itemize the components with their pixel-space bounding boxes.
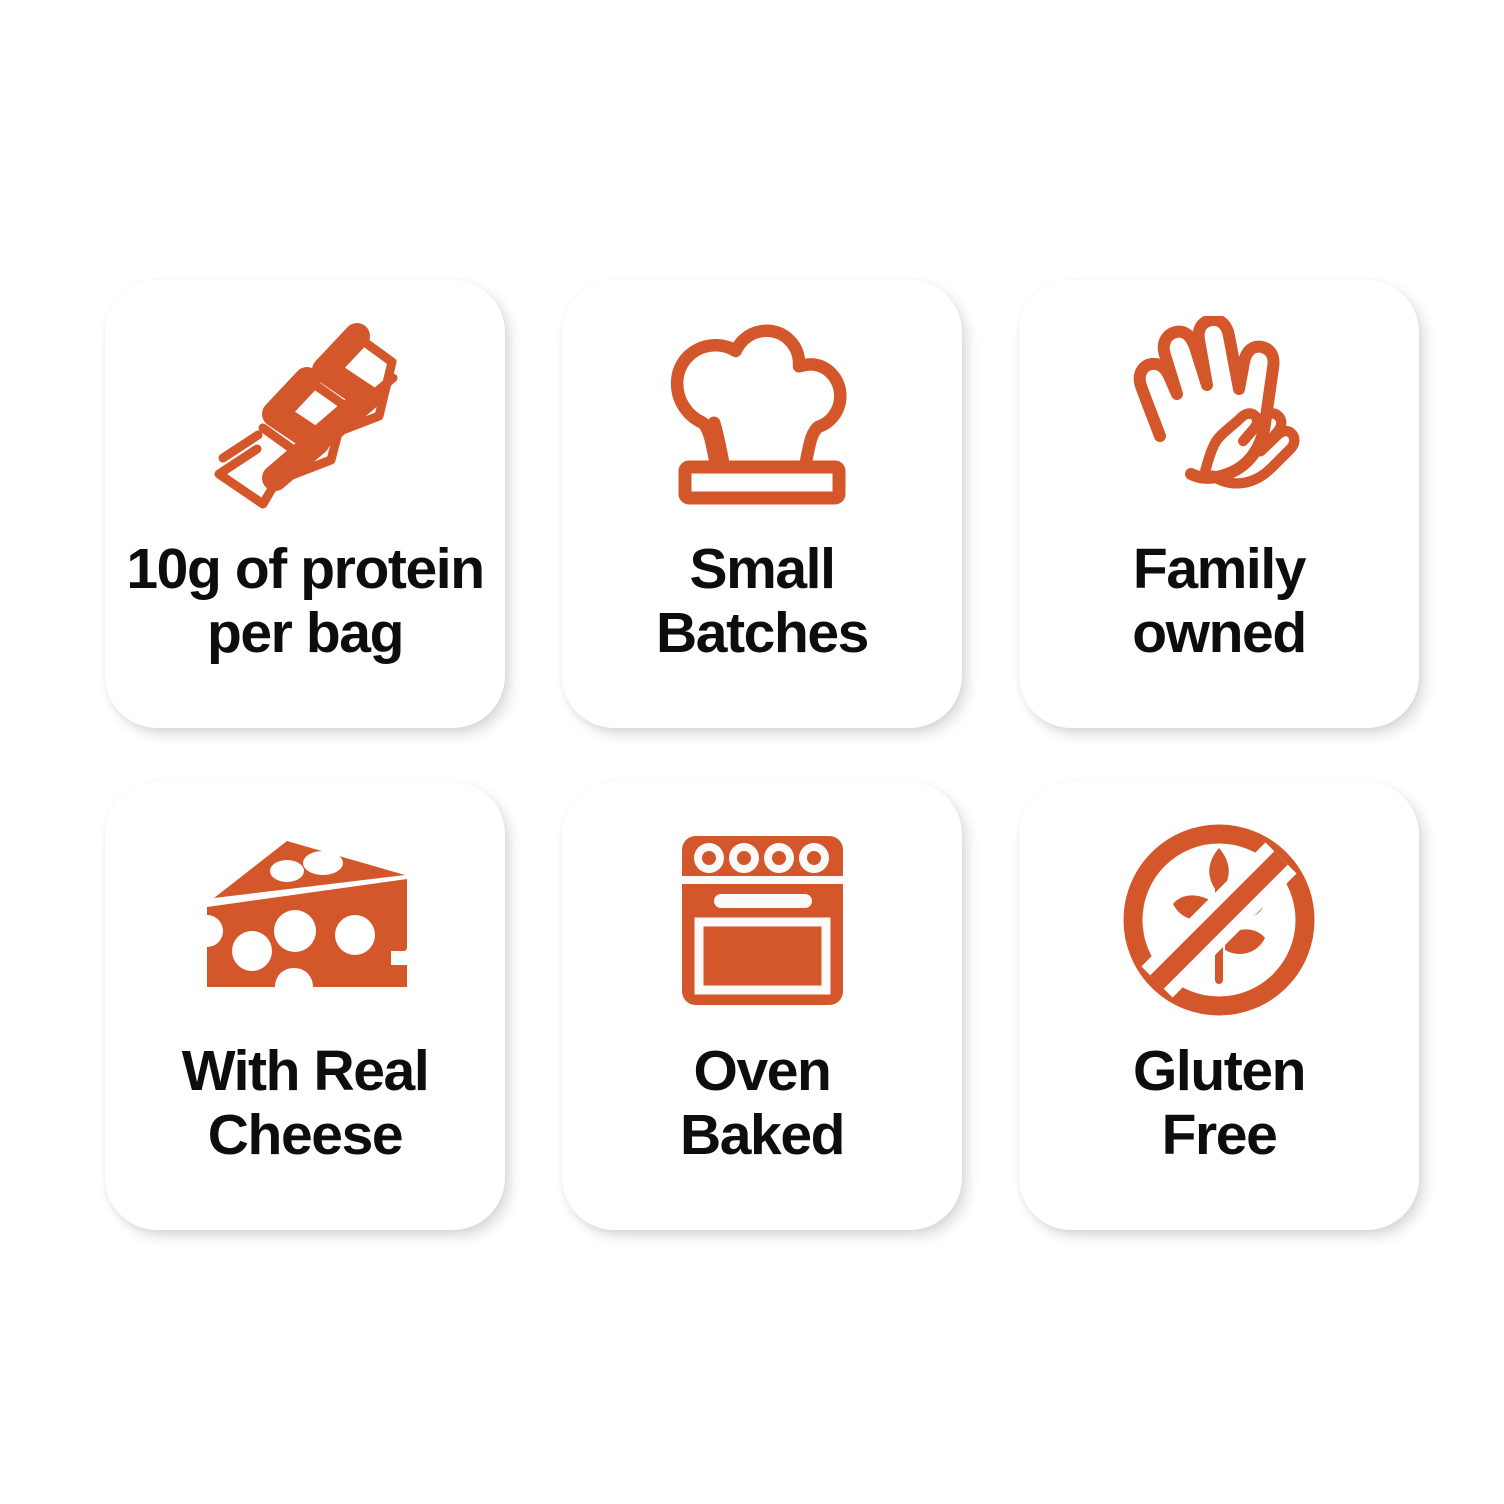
protein-helix-icon — [193, 304, 417, 532]
oven-icon — [670, 806, 855, 1034]
badge-card-protein[interactable]: 10g of protein per bag — [105, 280, 505, 728]
badge-label: Small Batches — [646, 538, 878, 666]
no-gluten-wheat-icon — [1119, 806, 1319, 1034]
badge-label: Gluten Free — [1123, 1040, 1315, 1168]
badge-card-small-batches[interactable]: Small Batches — [562, 280, 962, 728]
chef-hat-icon — [662, 304, 862, 532]
badge-card-oven-baked[interactable]: Oven Baked — [562, 782, 962, 1230]
badge-label: 10g of protein per bag — [116, 538, 493, 666]
badge-card-real-cheese[interactable]: With Real Cheese — [105, 782, 505, 1230]
badge-label: Oven Baked — [670, 1040, 854, 1168]
cheese-wedge-icon — [191, 806, 420, 1034]
badge-grid: 10g of protein per bag Small Batches Fam… — [105, 280, 1419, 1230]
badge-label: With Real Cheese — [172, 1040, 439, 1168]
badge-label: Family owned — [1122, 538, 1316, 666]
badge-card-gluten-free[interactable]: Gluten Free — [1019, 782, 1419, 1230]
two-hands-icon — [1119, 304, 1319, 532]
badge-card-family-owned[interactable]: Family owned — [1019, 280, 1419, 728]
